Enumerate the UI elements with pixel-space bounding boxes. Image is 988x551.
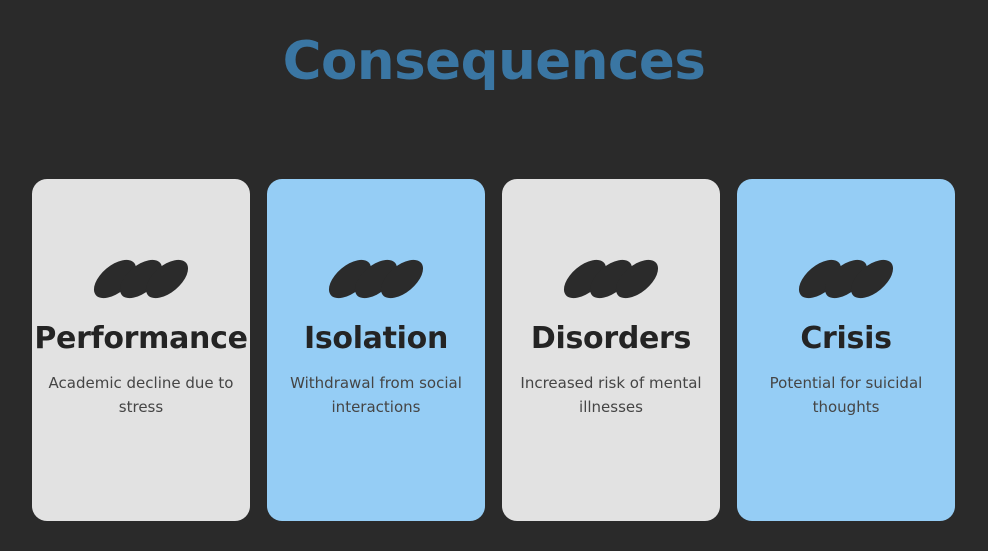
card-title: Isolation — [267, 321, 485, 358]
card-description: Potential for suicidal thoughts — [751, 371, 941, 419]
three-brush-strokes-icon — [324, 253, 428, 305]
page-title: Consequences — [0, 32, 988, 93]
three-brush-strokes-icon — [89, 253, 193, 305]
consequence-card[interactable]: Isolation Withdrawal from social interac… — [267, 179, 485, 521]
consequence-card[interactable]: Disorders Increased risk of mental illne… — [502, 179, 720, 521]
card-title: Performance — [32, 321, 250, 358]
three-brush-strokes-icon — [794, 253, 898, 305]
card-title: Disorders — [502, 321, 720, 358]
consequence-card[interactable]: Crisis Potential for suicidal thoughts — [737, 179, 955, 521]
presentation-slide: Consequences Performance Academic declin… — [0, 0, 988, 551]
card-title: Crisis — [737, 321, 955, 358]
card-description: Withdrawal from social interactions — [281, 371, 471, 419]
consequence-card-row: Performance Academic decline due to stre… — [32, 179, 955, 521]
card-description: Academic decline due to stress — [46, 371, 236, 419]
three-brush-strokes-icon — [559, 253, 663, 305]
consequence-card[interactable]: Performance Academic decline due to stre… — [32, 179, 250, 521]
card-description: Increased risk of mental illnesses — [516, 371, 706, 419]
